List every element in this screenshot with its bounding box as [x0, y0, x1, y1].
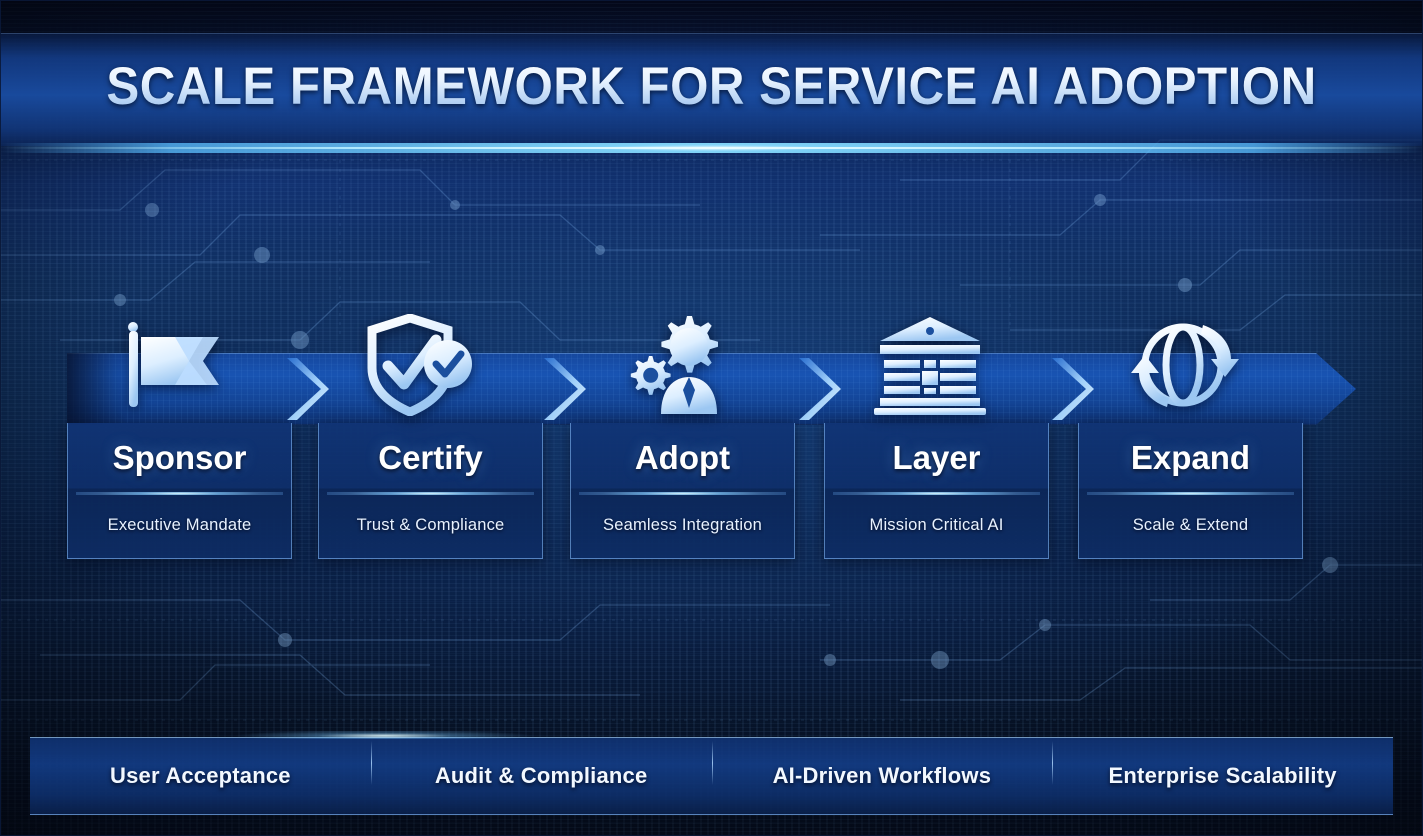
- outcome-item[interactable]: Enterprise Scalability: [1052, 763, 1393, 789]
- stage-divider: [76, 492, 283, 495]
- chevron-right-icon: [540, 355, 586, 423]
- chevron-right-icon: [283, 355, 329, 423]
- stage-subtitle-row: Seamless Integration: [571, 493, 794, 558]
- stage-title: Layer: [892, 439, 980, 477]
- chevron-right-icon: [1048, 355, 1094, 423]
- user-gears-icon: [616, 312, 736, 418]
- stage-divider: [833, 492, 1040, 495]
- chevron-right-icon: [795, 355, 841, 423]
- outcomes-bar: User Acceptance Audit & Compliance AI-Dr…: [30, 737, 1393, 815]
- stage-divider: [327, 492, 534, 495]
- stage-title: Adopt: [635, 439, 730, 477]
- title-glow-core: [0, 147, 1423, 149]
- stage-subtitle-row: Executive Mandate: [68, 493, 291, 558]
- stage-title: Sponsor: [113, 439, 247, 477]
- stage-card-certify[interactable]: Certify Trust & Compliance: [318, 423, 543, 559]
- stage-card-layer[interactable]: Layer Mission Critical AI: [824, 423, 1049, 559]
- stage-subtitle: Executive Mandate: [108, 516, 252, 535]
- stage-card-adopt[interactable]: Adopt Seamless Integration: [570, 423, 795, 559]
- stage-divider: [579, 492, 786, 495]
- outcome-item[interactable]: Audit & Compliance: [371, 763, 712, 789]
- stage-subtitle-row: Scale & Extend: [1079, 493, 1302, 558]
- stage-title-row: Certify: [319, 423, 542, 493]
- stage-title-row: Adopt: [571, 423, 794, 493]
- stage-divider: [1087, 492, 1294, 495]
- stage-subtitle: Trust & Compliance: [357, 516, 505, 535]
- stage-title-row: Sponsor: [68, 423, 291, 493]
- outcome-item[interactable]: AI-Driven Workflows: [712, 763, 1053, 789]
- outcome-item[interactable]: User Acceptance: [30, 763, 371, 789]
- stage-title: Certify: [378, 439, 483, 477]
- stage-subtitle: Mission Critical AI: [870, 516, 1004, 535]
- infographic-canvas: SCALE FRAMEWORK FOR SERVICE AI ADOPTION: [0, 0, 1423, 836]
- page-title: SCALE FRAMEWORK FOR SERVICE AI ADOPTION: [50, 56, 1373, 117]
- institution-icon: [870, 312, 990, 418]
- globe-arrows-icon: [1125, 312, 1245, 418]
- stage-card-sponsor[interactable]: Sponsor Executive Mandate: [67, 423, 292, 559]
- stage-subtitle: Scale & Extend: [1133, 516, 1249, 535]
- stage-subtitle-row: Trust & Compliance: [319, 493, 542, 558]
- stage-subtitle: Seamless Integration: [603, 516, 762, 535]
- stage-title-row: Layer: [825, 423, 1048, 493]
- stage-subtitle-row: Mission Critical AI: [825, 493, 1048, 558]
- stage-title-row: Expand: [1079, 423, 1302, 493]
- stage-card-expand[interactable]: Expand Scale & Extend: [1078, 423, 1303, 559]
- flag-icon: [110, 312, 230, 418]
- shield-check-icon: [362, 312, 482, 418]
- stage-title: Expand: [1131, 439, 1250, 477]
